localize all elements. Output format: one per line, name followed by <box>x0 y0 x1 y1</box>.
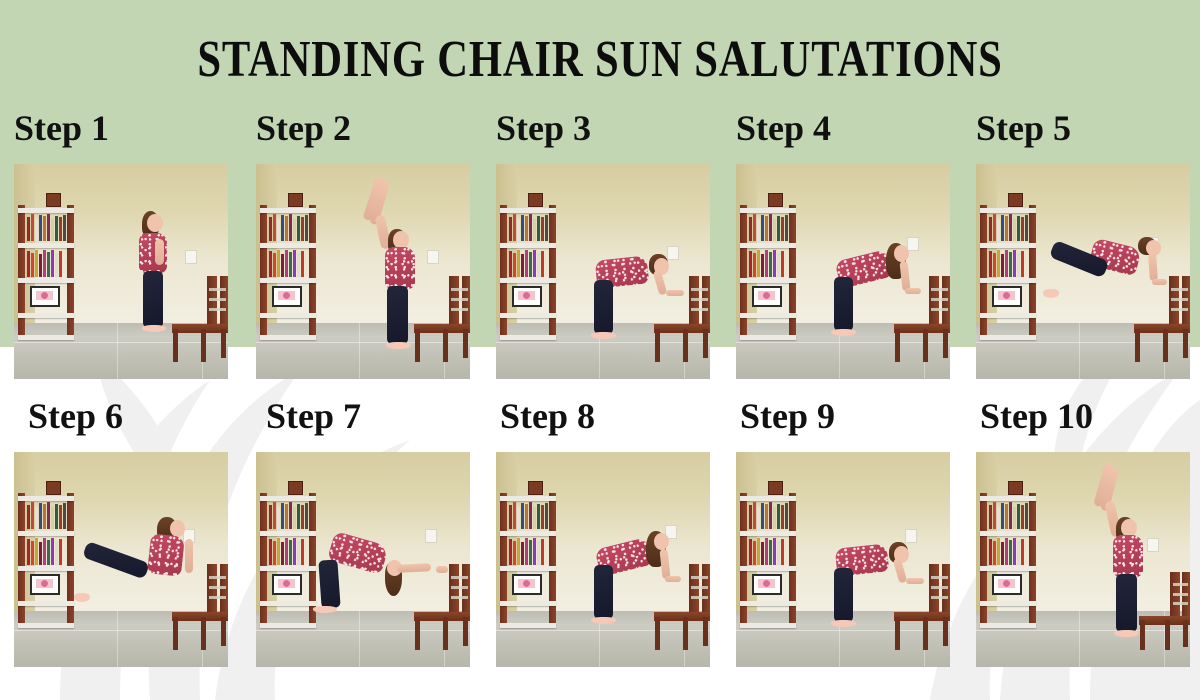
book <box>989 539 992 565</box>
book <box>993 502 996 529</box>
shelf-side-panel <box>789 493 796 628</box>
shelf-board <box>260 313 316 318</box>
chair-slat <box>691 308 708 311</box>
legs <box>594 280 613 334</box>
chair-backrest <box>462 564 470 617</box>
book <box>541 539 544 565</box>
framed-photo <box>512 286 542 307</box>
framed-photo <box>752 574 782 595</box>
chair-leg <box>1165 620 1170 649</box>
shelf-board <box>18 496 74 501</box>
book <box>269 251 272 277</box>
chair-slat <box>1173 593 1188 596</box>
person-figure <box>590 254 693 353</box>
picture-frame-icon <box>528 193 543 207</box>
room-scene <box>256 452 470 667</box>
step-photo-3 <box>496 164 710 379</box>
shelf-board <box>740 531 796 536</box>
step-photo-5 <box>976 164 1190 379</box>
chair-backrest <box>462 276 470 329</box>
head <box>654 533 669 550</box>
book <box>297 253 300 276</box>
book-row <box>989 501 1028 529</box>
book <box>1017 253 1020 276</box>
book <box>761 542 764 565</box>
shelf-side-panel <box>500 205 507 340</box>
book <box>59 505 62 529</box>
picture-frame-icon <box>288 481 303 495</box>
book <box>757 250 760 277</box>
framed-photo <box>272 574 302 595</box>
room-scene <box>256 164 470 379</box>
book <box>757 507 760 529</box>
person-figure <box>70 517 211 646</box>
book <box>769 252 772 277</box>
book <box>533 507 536 530</box>
chair-backrest <box>1182 572 1190 620</box>
book <box>989 505 992 529</box>
shelf-board <box>980 566 1036 571</box>
book <box>749 217 752 241</box>
book <box>1001 215 1004 241</box>
shelf-board <box>18 208 74 213</box>
hand <box>436 566 448 573</box>
hand <box>906 578 924 584</box>
shelf-board <box>500 208 556 213</box>
book-row <box>989 536 1024 564</box>
book <box>281 254 284 277</box>
book <box>989 217 992 241</box>
book <box>289 502 292 529</box>
book <box>777 216 780 242</box>
book <box>35 538 38 565</box>
chair-slat <box>931 596 948 599</box>
shelf-board <box>260 243 316 248</box>
book <box>517 538 520 565</box>
book <box>31 541 34 565</box>
book <box>517 219 520 241</box>
chair-slat <box>931 308 948 311</box>
book <box>43 538 46 564</box>
book <box>273 253 276 277</box>
book <box>773 538 776 565</box>
book <box>43 216 46 241</box>
step-label-10: Step 10 <box>980 398 1093 434</box>
floor-grout-line <box>117 323 118 379</box>
shelf-board <box>500 496 556 501</box>
book-row <box>749 248 784 276</box>
book <box>35 507 38 529</box>
step-photo-9 <box>736 452 950 667</box>
book <box>545 215 548 241</box>
book <box>55 541 58 564</box>
chair-leg <box>943 329 948 358</box>
shelf-board <box>260 335 316 340</box>
book <box>529 214 532 241</box>
chair-leg <box>221 617 226 646</box>
legs <box>319 559 341 608</box>
book <box>1025 215 1028 241</box>
book <box>31 214 34 241</box>
foot <box>1114 630 1139 637</box>
chair-slat <box>691 586 708 589</box>
book <box>1009 214 1012 241</box>
book <box>769 214 772 241</box>
chair-leg <box>201 329 206 362</box>
shelf-board <box>18 243 74 248</box>
book <box>773 219 776 242</box>
head <box>1121 519 1137 537</box>
book <box>285 216 288 241</box>
chair-backrest <box>1170 572 1180 620</box>
foot <box>386 342 411 349</box>
book <box>269 539 272 565</box>
book <box>305 503 308 529</box>
book-row <box>509 536 544 564</box>
book <box>1017 541 1020 564</box>
shelf-board <box>500 243 556 248</box>
book <box>1013 219 1016 242</box>
bookshelf <box>500 493 556 628</box>
book <box>1009 252 1012 277</box>
book <box>1021 505 1024 529</box>
book <box>277 507 280 529</box>
chair-slat <box>451 586 468 589</box>
arm <box>659 549 670 580</box>
book <box>521 215 524 241</box>
bookshelf <box>980 205 1036 340</box>
person-figure <box>299 538 453 650</box>
book-row <box>989 213 1028 241</box>
arm <box>899 261 910 292</box>
book <box>541 505 544 529</box>
book <box>277 538 280 565</box>
book <box>753 502 756 529</box>
book <box>51 219 54 242</box>
book <box>47 540 50 565</box>
book <box>749 251 752 277</box>
book <box>63 215 66 241</box>
shelf-side-panel <box>1029 205 1036 340</box>
legs <box>387 286 408 344</box>
book <box>513 502 516 529</box>
book-row <box>749 536 784 564</box>
steps-grid: Step 1 <box>0 0 1200 700</box>
book <box>297 504 300 530</box>
chair-backrest <box>702 564 710 617</box>
chair-leg <box>703 617 708 646</box>
book <box>293 250 296 277</box>
book <box>761 215 764 241</box>
chair-slat <box>691 288 708 291</box>
shelf-side-panel <box>1029 493 1036 628</box>
chair-backrest <box>942 276 950 329</box>
head <box>393 231 409 249</box>
shelf-board <box>740 208 796 213</box>
step-label-2: Step 2 <box>256 110 351 146</box>
legs <box>143 271 163 327</box>
person-figure <box>125 211 189 344</box>
bookshelf <box>260 205 316 340</box>
chair-slat <box>931 586 948 589</box>
book <box>1005 504 1008 529</box>
book <box>757 219 760 241</box>
chair-slat <box>691 576 708 579</box>
chair-leg <box>463 617 468 646</box>
book-row <box>749 213 788 241</box>
bookshelf <box>500 205 556 340</box>
shelf-board <box>980 313 1036 318</box>
framed-photo <box>30 286 60 307</box>
book <box>285 504 288 529</box>
book <box>293 507 296 530</box>
shelf-board <box>740 496 796 501</box>
shelf-board <box>740 623 796 628</box>
poster-canvas: STANDING CHAIR SUN SALUTATIONS Step 1 <box>0 0 1200 700</box>
book <box>47 214 50 241</box>
chair-leg <box>221 329 226 358</box>
book <box>773 507 776 530</box>
person-figure <box>830 542 933 641</box>
chair-leg <box>943 617 948 646</box>
chair-backrest <box>207 276 217 329</box>
book <box>27 251 30 277</box>
step-photo-7 <box>256 452 470 667</box>
picture-frame-icon <box>1008 193 1023 207</box>
arm <box>1148 253 1158 281</box>
book <box>769 502 772 529</box>
hand <box>665 576 681 582</box>
book <box>1001 542 1004 565</box>
chair-leg <box>463 329 468 358</box>
shelf-board <box>500 623 556 628</box>
book <box>285 538 288 564</box>
head <box>170 520 185 537</box>
shelf-board <box>500 278 556 283</box>
book-row <box>269 213 308 241</box>
torso-top <box>1113 535 1143 577</box>
book <box>35 250 38 277</box>
book <box>781 505 784 529</box>
chair-slat <box>209 576 226 579</box>
shelf-side-panel <box>740 493 747 628</box>
hand <box>666 290 684 296</box>
book <box>51 538 54 565</box>
book <box>47 252 50 277</box>
framed-photo <box>30 574 60 595</box>
head <box>147 214 163 232</box>
book <box>301 505 304 529</box>
book <box>537 253 540 276</box>
book <box>513 214 516 241</box>
book <box>765 504 768 529</box>
picture-frame-icon <box>46 193 61 207</box>
book <box>39 254 42 277</box>
book <box>537 216 540 242</box>
book-row <box>27 248 62 276</box>
book <box>55 504 58 530</box>
book-row <box>27 501 66 529</box>
book <box>39 503 42 529</box>
framed-photo <box>752 286 782 307</box>
step-label-6: Step 6 <box>28 398 123 434</box>
book <box>31 502 34 529</box>
chair-slat <box>451 308 468 311</box>
chair-backrest <box>942 564 950 617</box>
chair-leg <box>703 329 708 358</box>
book <box>293 538 296 565</box>
person-figure <box>826 241 933 353</box>
book <box>525 216 528 241</box>
chair-slat <box>209 288 226 291</box>
foot <box>142 325 166 332</box>
book <box>529 502 532 529</box>
book-row <box>269 501 308 529</box>
book <box>769 540 772 565</box>
book <box>989 251 992 277</box>
book <box>1013 538 1016 565</box>
book-row <box>509 501 548 529</box>
book <box>43 504 46 529</box>
chair-slat <box>1173 583 1188 586</box>
shelf-side-panel <box>980 205 987 340</box>
step-photo-8 <box>496 452 710 667</box>
shelf-board <box>740 278 796 283</box>
shelf-side-panel <box>549 493 556 628</box>
book <box>777 253 780 276</box>
book <box>281 542 284 565</box>
shelf-board <box>260 496 316 501</box>
book-row <box>509 248 544 276</box>
book <box>39 542 42 565</box>
step-label-7: Step 7 <box>266 398 361 434</box>
chair-backrest <box>220 276 228 329</box>
book <box>59 217 62 241</box>
legs <box>82 540 150 579</box>
book <box>765 216 768 241</box>
step-label-8: Step 8 <box>500 398 595 434</box>
book <box>521 254 524 277</box>
shelf-side-panel <box>67 205 74 340</box>
torso-top <box>385 247 415 289</box>
chair-backrest <box>1182 276 1190 329</box>
book <box>51 250 54 277</box>
book <box>765 538 768 564</box>
book <box>753 541 756 565</box>
step-photo-2 <box>256 164 470 379</box>
room-scene <box>736 452 950 667</box>
picture-frame-icon <box>768 193 783 207</box>
picture-frame-icon <box>288 193 303 207</box>
room-scene <box>496 452 710 667</box>
book <box>993 253 996 277</box>
book <box>27 217 30 241</box>
shelf-board <box>18 623 74 628</box>
light-switch <box>905 529 917 543</box>
chair-leg <box>1183 620 1188 646</box>
room-scene <box>976 452 1190 667</box>
book <box>55 216 58 242</box>
shelf-board <box>980 623 1036 628</box>
shelf-board <box>980 278 1036 283</box>
person-figure <box>1092 461 1165 637</box>
room-scene <box>14 452 228 667</box>
shelf-board <box>18 335 74 340</box>
foot <box>831 620 856 627</box>
book <box>541 251 544 277</box>
shelf-side-panel <box>740 205 747 340</box>
picture-frame-icon <box>1008 481 1023 495</box>
chair-slat <box>931 576 948 579</box>
hand <box>1152 279 1167 285</box>
book <box>785 215 788 241</box>
book-row <box>989 248 1024 276</box>
book-row <box>749 501 788 529</box>
book-row <box>269 248 304 276</box>
page-title: STANDING CHAIR SUN SALUTATIONS <box>108 30 1092 89</box>
shelf-side-panel <box>980 493 987 628</box>
shelf-side-panel <box>18 205 25 340</box>
book <box>43 250 46 276</box>
book <box>289 214 292 241</box>
book <box>517 507 520 529</box>
book <box>297 216 300 242</box>
book <box>537 504 540 530</box>
shelf-side-panel <box>260 493 267 628</box>
book <box>1017 216 1020 242</box>
book <box>781 539 784 565</box>
shelf-board <box>260 531 316 536</box>
shelf-board <box>740 313 796 318</box>
step-photo-6 <box>14 452 228 667</box>
book <box>273 541 276 565</box>
foot <box>313 606 337 613</box>
shelf-board <box>740 335 796 340</box>
chair-slat <box>931 298 948 301</box>
shelf-board <box>740 243 796 248</box>
bookshelf <box>980 493 1036 628</box>
chair-backrest <box>702 276 710 329</box>
book <box>537 541 540 564</box>
shelf-side-panel <box>789 205 796 340</box>
shelf-side-panel <box>260 205 267 340</box>
book <box>773 250 776 277</box>
foot <box>591 332 616 339</box>
book <box>785 503 788 529</box>
book <box>997 507 1000 529</box>
book <box>513 541 516 565</box>
book <box>1009 502 1012 529</box>
book <box>63 503 66 529</box>
bookshelf <box>740 493 796 628</box>
step-label-9: Step 9 <box>740 398 835 434</box>
shelf-board <box>500 313 556 318</box>
shelf-board <box>18 313 74 318</box>
arm <box>155 239 164 265</box>
framed-photo <box>992 286 1022 307</box>
book <box>761 254 764 277</box>
framed-photo <box>512 574 542 595</box>
book <box>273 214 276 241</box>
book <box>997 219 1000 241</box>
chair-slat <box>209 298 226 301</box>
book <box>293 219 296 242</box>
book <box>1001 254 1004 277</box>
book <box>1025 503 1028 529</box>
room-scene <box>736 164 950 379</box>
chair-slat <box>451 576 468 579</box>
foot <box>591 617 616 624</box>
